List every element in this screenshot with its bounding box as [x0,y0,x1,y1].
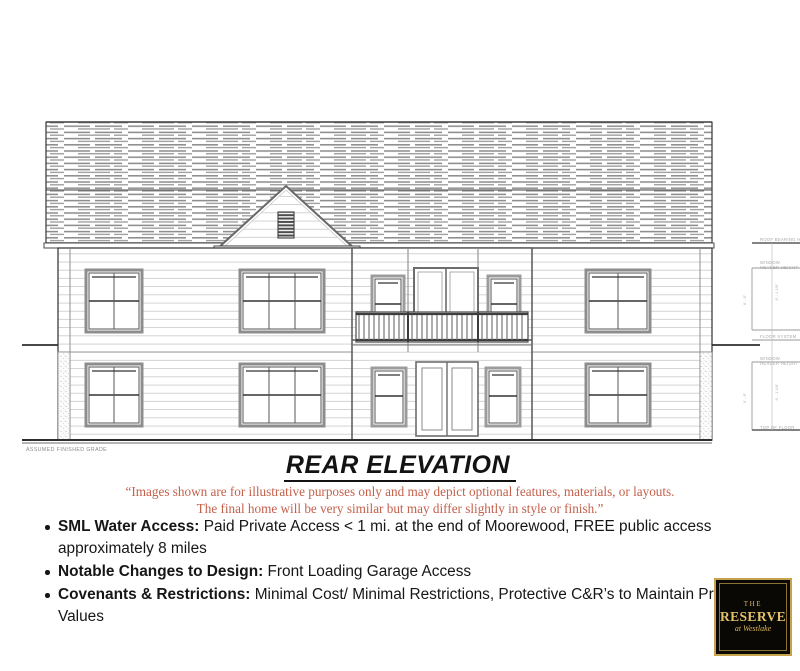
dimension-annotations: ROOF BEARING HEIGHT WINDOW HEADER HEIGHT… [742,237,800,430]
dim-label-window-header-2b: HEADER HEIGHT [760,361,798,366]
dim-label-roof: ROOF BEARING HEIGHT [760,237,800,242]
disclaimer-line-1: “Images shown are for illustrative purpo… [0,484,800,501]
disclaimer-text: “Images shown are for illustrative purpo… [0,484,800,517]
window-upper-left2-triple [240,270,324,332]
window-lower-left-triple [86,364,142,426]
balcony-railing [356,312,528,342]
feature-bullet-list: SML Water Access: Paid Private Access < … [0,516,770,629]
rear-elevation-drawing: ASSUMED FINISHED GRADE ROOF BEARING HEIG… [0,0,800,455]
disclaimer-line-2: The final home will be very similar but … [0,501,800,518]
bullet-text: Front Loading Garage Access [263,563,471,580]
window-lower-porch-left [372,368,406,426]
logo-line-the: THE [744,600,762,609]
dim-value-2: 8' - 1 1/8" [774,283,779,300]
dim-label-top-floor: TOP OF FLOOR [760,425,795,430]
list-item: Notable Changes to Design: Front Loading… [58,561,770,583]
dim-value-1: 6' - 8" [742,294,747,305]
logo-line-reserve: RESERVE [720,609,786,624]
roof-assembly [44,122,714,248]
bullet-label: Notable Changes to Design: [58,563,263,580]
window-upper-right-double [586,270,650,332]
list-item: Covenants & Restrictions: Minimal Cost/ … [58,584,770,628]
dim-label-window-header-1b: HEADER HEIGHT [760,265,798,270]
french-doors-lower [416,362,478,436]
reserve-at-westlake-logo: THE RESERVE at Westlake [714,578,792,656]
slide-page: ASSUMED FINISHED GRADE ROOF BEARING HEIG… [0,0,800,671]
dim-value-3: 6' - 8" [742,392,747,403]
window-lower-left2-triple [240,364,324,426]
logo-inner-border: THE RESERVE at Westlake [719,583,787,651]
dim-value-4: 8' - 1 1/8" [774,383,779,400]
bullet-label: Covenants & Restrictions: [58,586,250,603]
page-title: REAR ELEVATION [284,452,516,482]
bullet-label: SML Water Access: [58,518,199,535]
logo-line-at-westlake: at Westlake [735,624,771,634]
list-item: SML Water Access: Paid Private Access < … [58,516,770,560]
window-upper-left-triple [86,270,142,332]
dim-label-floor-system: FLOOR SYSTEM [760,334,797,339]
window-lower-porch-right [486,368,520,426]
window-lower-right-double [586,364,650,426]
elevation-title-wrap: REAR ELEVATION [0,452,800,482]
